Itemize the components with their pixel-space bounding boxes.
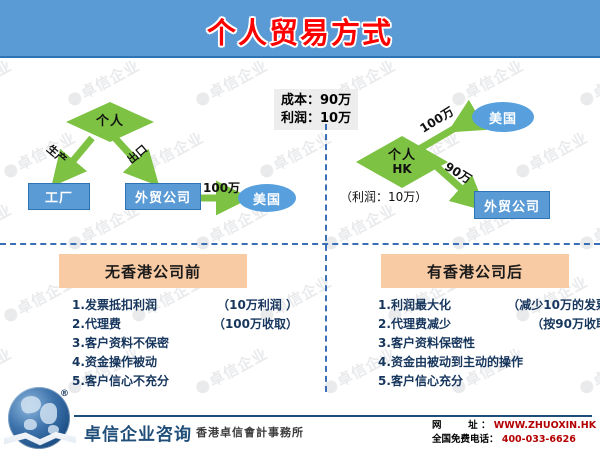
profit-line: 利润：10万 <box>281 110 351 128</box>
panel-after-hk: 有香港公司后 1.利润最大化（减少10万的发票）2.代理费减少（按90万收取）3… <box>330 248 600 393</box>
list-item: 2.代理费减少（按90万收取） <box>378 318 600 330</box>
list-item-number: 2. <box>72 318 85 330</box>
list-item-text: 资金操作被动 <box>85 356 190 368</box>
list-item: 1.利润最大化（减少10万的发票） <box>378 299 600 311</box>
node-trade-company-left: 外贸公司 <box>125 183 201 210</box>
contact-info: 网 址 ： WWW.ZHUOXIN.HK 全国免费电话： 400-033-662… <box>432 419 596 448</box>
list-item-number: 4. <box>378 356 391 368</box>
list-item-note: （按90万收取） <box>521 318 600 330</box>
page-title: 个人贸易方式 <box>0 10 600 52</box>
list-item: 4.资金由被动到主动的操作 <box>378 356 600 368</box>
hotline-label: 全国免费电话： <box>432 434 499 445</box>
node-usa-left: 美国 <box>238 184 296 212</box>
panel-before-list: 1.发票抵扣利润（10万利润 ）2.代理费（100万收取）3.客户资料不保密4.… <box>8 299 298 387</box>
list-item-text: 代理费减少 <box>391 318 491 330</box>
node-usa-left-label: 美国 <box>253 189 281 208</box>
list-item-number: 5. <box>378 375 391 387</box>
list-item: 3.客户资料保密性 <box>378 337 600 349</box>
list-item-number: 4. <box>72 356 85 368</box>
list-item-number: 1. <box>72 299 85 311</box>
list-item-text: 发票抵扣利润 <box>85 299 190 311</box>
list-item-number: 5. <box>72 375 85 387</box>
website-label: 网 <box>432 420 442 431</box>
registered-mark: ® <box>60 389 69 399</box>
list-item: 3.客户资料不保密 <box>72 337 298 349</box>
panel-after-heading: 有香港公司后 <box>381 254 569 288</box>
list-item: 1.发票抵扣利润（10万利润 ） <box>72 299 298 311</box>
node-usa-right-label: 美国 <box>489 108 517 127</box>
list-item: 4.资金操作被动 <box>72 356 298 368</box>
node-factory-label: 工厂 <box>45 187 73 206</box>
list-item: 2.代理费（100万收取） <box>72 318 298 330</box>
website-row: 网 址 ： WWW.ZHUOXIN.HK <box>432 419 596 433</box>
node-trade-company-right: 外贸公司 <box>474 191 550 219</box>
brand-subtitle: 香港卓信會計事務所 <box>196 424 304 440</box>
divider-vertical <box>325 124 327 392</box>
diagram-area: 个人 生产 出口 工厂 外贸公司 100万 美国 成本：90万 利润：10万 1… <box>0 58 600 244</box>
profit-note: （利润：10万） <box>340 188 427 205</box>
node-person-hk-sub: HK <box>392 163 411 176</box>
hotline-row: 全国免费电话： 400-033-6626 <box>432 433 596 447</box>
panel-after-list: 1.利润最大化（减少10万的发票）2.代理费减少（按90万收取）3.客户资料保密… <box>330 299 600 387</box>
list-item: 5.客户信心不充分 <box>72 375 298 387</box>
list-item-note: （100万收取） <box>203 318 298 330</box>
list-item-number: 1. <box>378 299 391 311</box>
list-item-text: 代理费 <box>85 318 190 330</box>
slide-canvas: 卓信企业卓信企业卓信企业卓信企业卓信企业卓信企业卓信企业卓信企业卓信企业卓信企业… <box>0 0 600 450</box>
list-item-note: （10万利润 ） <box>207 299 298 311</box>
node-trade-company-left-label: 外贸公司 <box>135 187 191 206</box>
hotline-value: 400-033-6626 <box>502 434 576 445</box>
node-usa-right: 美国 <box>472 102 534 132</box>
list-item-number: 3. <box>378 337 391 349</box>
panel-before-heading: 无香港公司前 <box>59 254 247 288</box>
list-item-text: 利润最大化 <box>391 299 491 311</box>
list-item-text: 客户信心不充分 <box>85 375 190 387</box>
panel-before-hk: 无香港公司前 1.发票抵扣利润（10万利润 ）2.代理费（100万收取）3.客户… <box>8 248 298 393</box>
node-person-hk-label: 个人 <box>388 149 416 163</box>
list-item-text: 客户资料不保密 <box>85 337 190 349</box>
website-label2: 址 ： <box>468 420 490 431</box>
node-factory: 工厂 <box>28 183 90 210</box>
footer-rule <box>74 415 592 417</box>
node-person-left-label: 个人 <box>96 115 124 129</box>
brand-name: 卓信企业咨询 <box>84 420 192 445</box>
list-item: 5.客户信心充分 <box>378 375 600 387</box>
cost-line: 成本：90万 <box>281 92 351 110</box>
list-item-number: 2. <box>378 318 391 330</box>
amount-label-left: 100万 <box>203 179 240 196</box>
cost-profit-box: 成本：90万 利润：10万 <box>274 89 358 130</box>
footer: ® 卓信企业咨询 香港卓信會計事務所 网 址 ： WWW.ZHUOXIN.HK … <box>0 393 600 450</box>
divider-horizontal <box>0 243 600 245</box>
list-item-number: 3. <box>72 337 85 349</box>
list-item-text: 客户信心充分 <box>391 375 491 387</box>
list-item-note: （减少10万的发票） <box>497 299 600 311</box>
website-value[interactable]: WWW.ZHUOXIN.HK <box>494 420 596 431</box>
list-item-text: 资金由被动到主动的操作 <box>391 356 491 368</box>
list-item-text: 客户资料保密性 <box>391 337 491 349</box>
node-trade-company-right-label: 外贸公司 <box>484 196 540 215</box>
